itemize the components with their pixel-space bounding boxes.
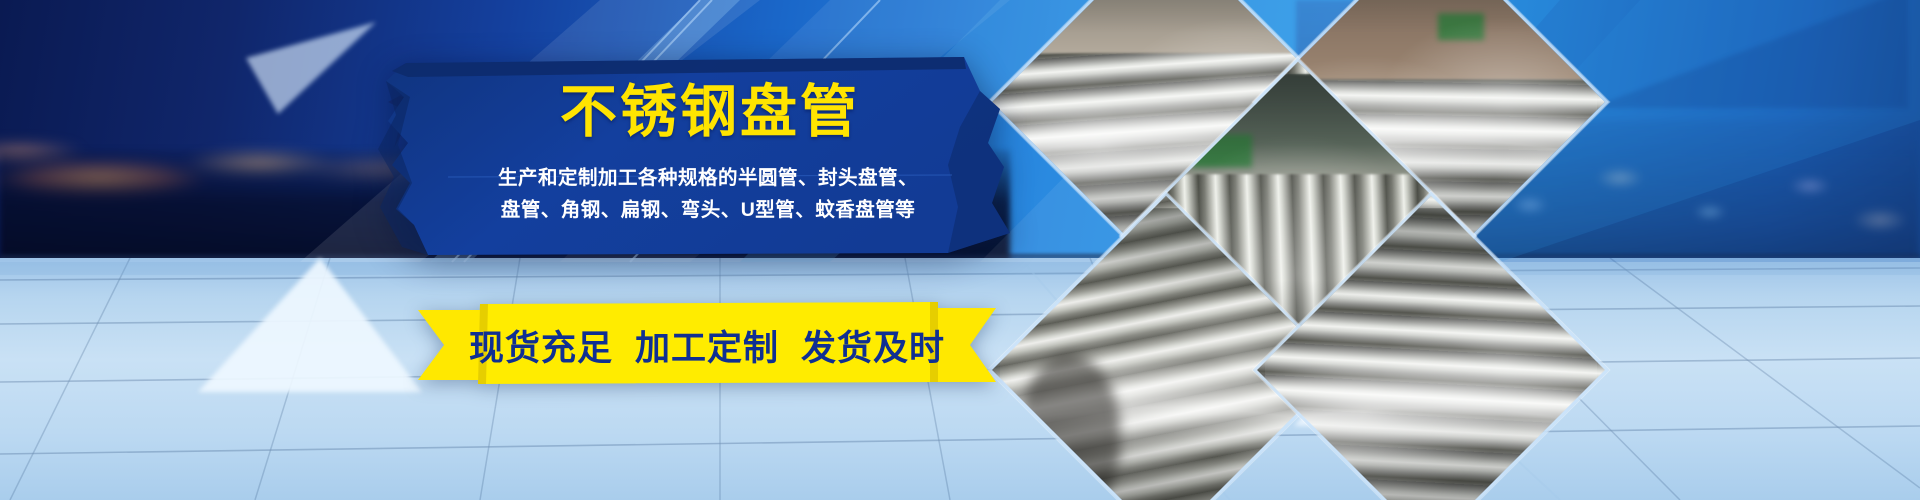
highlight-item-3: 发货及时 [801, 320, 945, 371]
product-diamond-gallery [1000, 0, 1620, 500]
headline-panel-content: 不锈钢盘管 生产和定制加工各种规格的半圆管、封头盘管、 盘管、角钢、扁钢、弯头、… [352, 57, 1012, 255]
subtitle-line-1: 生产和定制加工各种规格的半圆管、封头盘管、 [498, 163, 918, 195]
decorative-triangle-topright [1590, 0, 1910, 110]
banner-stage: 不锈钢盘管 生产和定制加工各种规格的半圆管、封头盘管、 盘管、角钢、扁钢、弯头、… [0, 0, 1920, 500]
highlight-ribbon: 现货充足 加工定制 发货及时 [418, 302, 996, 386]
headline-panel: 不锈钢盘管 生产和定制加工各种规格的半圆管、封头盘管、 盘管、角钢、扁钢、弯头、… [352, 57, 1012, 255]
decorative-triangle-left [190, 250, 430, 400]
page-title: 不锈钢盘管 [560, 83, 860, 141]
highlight-item-1: 现货充足 [469, 320, 613, 371]
subtitle-block: 生产和定制加工各种规格的半圆管、封头盘管、 盘管、角钢、扁钢、弯头、U型管、蚊香… [498, 163, 918, 226]
highlight-ribbon-text: 现货充足 加工定制 发货及时 [418, 302, 996, 386]
highlight-item-2: 加工定制 [635, 320, 779, 371]
subtitle-line-2: 盘管、角钢、扁钢、弯头、U型管、蚊香盘管等 [498, 195, 918, 227]
